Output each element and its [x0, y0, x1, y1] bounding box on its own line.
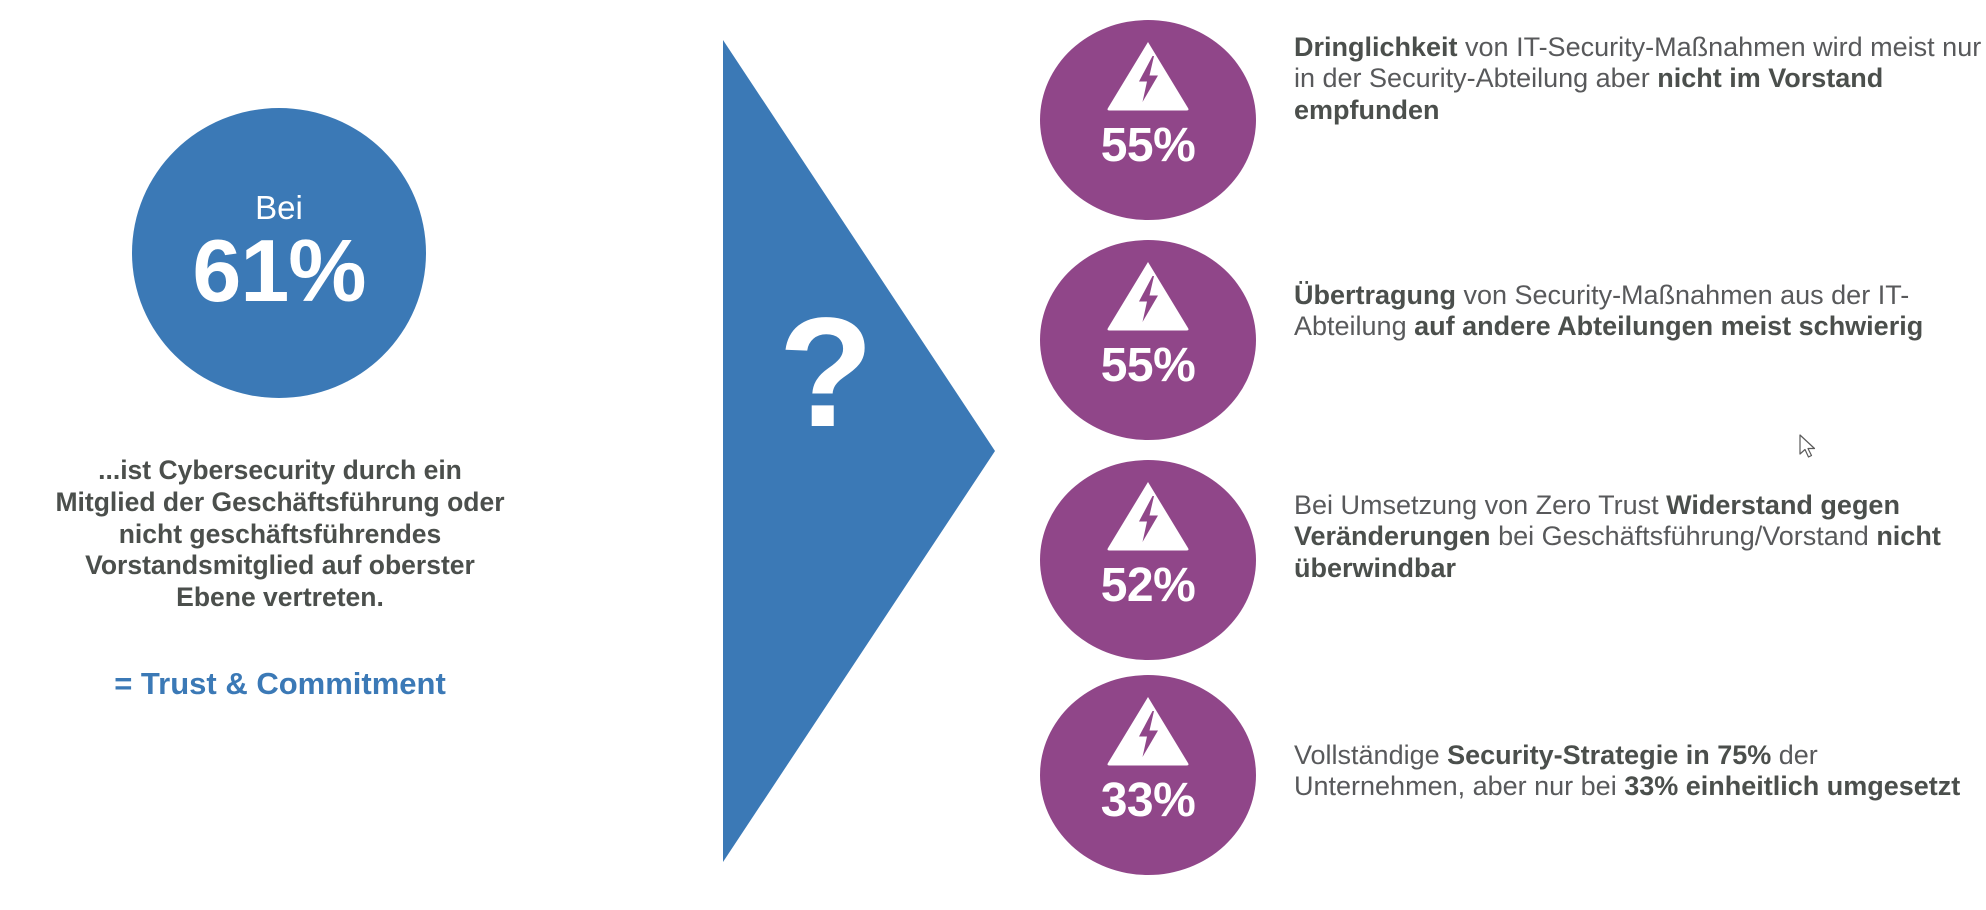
purple-stat-bubble: 55% — [1040, 240, 1256, 440]
warning-lightning-icon — [1106, 40, 1190, 112]
trust-commitment-conclusion: = Trust & Commitment — [16, 665, 544, 702]
statistics-rows: 55% Dringlichkeit von IT-Security-Maßnah… — [1040, 0, 1986, 910]
caption-line-5: Ebene vertreten. — [16, 582, 544, 614]
stat-percent: 55% — [1101, 122, 1196, 170]
stat-row: 52% Bei Umsetzung von Zero Trust Widerst… — [1040, 460, 1986, 660]
stat-percent: 55% — [1101, 342, 1196, 390]
warning-lightning-icon — [1106, 260, 1190, 332]
stat-percent: 52% — [1101, 562, 1196, 610]
left-panel: Bei 61% ...ist Cybersecurity durch ein M… — [0, 0, 640, 910]
stat-value-61: 61% — [192, 226, 365, 316]
stat-description: Bei Umsetzung von Zero Trust Widerstand … — [1256, 460, 1986, 584]
caption-line-3: nicht geschäftsführendes — [16, 519, 544, 551]
stat-description: Übertragung von Security-Maßnahmen aus d… — [1256, 240, 1986, 343]
purple-stat-bubble: 55% — [1040, 20, 1256, 220]
warning-lightning-icon — [1106, 695, 1190, 767]
stat-description: Dringlichkeit von IT-Security-Maßnahmen … — [1256, 20, 1986, 126]
stat-row: 33% Vollständige Security-Strategie in 7… — [1040, 675, 1986, 875]
blue-stat-circle: Bei 61% — [132, 108, 426, 398]
stat-row: 55% Übertragung von Security-Maßnahmen a… — [1040, 240, 1986, 440]
stat-prefix-label: Bei — [255, 191, 303, 224]
question-mark-symbol: ? — [751, 295, 901, 451]
warning-lightning-icon — [1106, 480, 1190, 552]
stat-percent: 33% — [1101, 777, 1196, 825]
blue-arrow: ? — [723, 40, 995, 862]
infographic-canvas: Bei 61% ...ist Cybersecurity durch ein M… — [0, 0, 1986, 910]
caption-line-2: Mitglied der Geschäftsführung oder — [16, 487, 544, 519]
caption-line-1: ...ist Cybersecurity durch ein — [16, 455, 544, 487]
caption-line-4: Vorstandsmitglied auf oberster — [16, 550, 544, 582]
left-caption: ...ist Cybersecurity durch ein Mitglied … — [16, 455, 544, 614]
stat-row: 55% Dringlichkeit von IT-Security-Maßnah… — [1040, 20, 1986, 220]
purple-stat-bubble: 52% — [1040, 460, 1256, 660]
stat-description: Vollständige Security-Strategie in 75% d… — [1256, 675, 1986, 803]
purple-stat-bubble: 33% — [1040, 675, 1256, 875]
